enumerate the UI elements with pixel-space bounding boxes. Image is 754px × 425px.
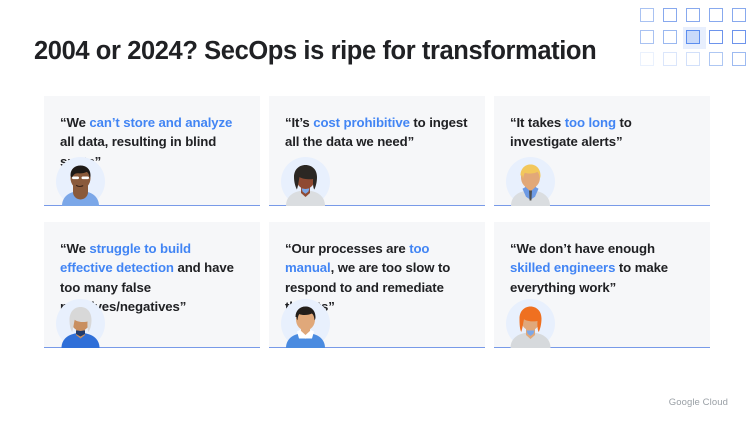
grid-square — [683, 5, 706, 27]
quote-highlight: too long — [565, 115, 616, 130]
grid-square — [683, 49, 706, 71]
grid-square — [729, 5, 752, 27]
page-title: 2004 or 2024? SecOps is ripe for transfo… — [34, 37, 596, 66]
grid-square — [706, 27, 729, 49]
quote-highlight: cost prohibitive — [313, 115, 410, 130]
avatar — [56, 157, 105, 206]
quote-plain: “We — [60, 241, 89, 256]
quote-text: “We don’t have enough skilled engineers … — [510, 239, 694, 297]
quote-card-grid: “We can’t store and analyze all data, re… — [44, 96, 710, 348]
grid-square — [637, 27, 660, 49]
avatar — [281, 299, 330, 348]
quote-card: “It takes too long to investigate alerts… — [494, 96, 710, 206]
grid-square — [729, 49, 752, 71]
quote-row-2: “We struggle to build effective detectio… — [44, 222, 710, 348]
quote-highlight: skilled engineers — [510, 260, 615, 275]
avatar — [281, 157, 330, 206]
grid-square — [660, 27, 683, 49]
grid-square — [637, 5, 660, 27]
avatar — [506, 157, 555, 206]
slide-root: 2004 or 2024? SecOps is ripe for transfo… — [0, 0, 754, 425]
grid-square — [706, 5, 729, 27]
grid-square — [637, 49, 660, 71]
grid-square-highlighted — [683, 27, 706, 49]
quote-card: “We struggle to build effective detectio… — [44, 222, 260, 348]
quote-card: “It’s cost prohibitive to ingest all the… — [269, 96, 485, 206]
square-grid-pattern-icon — [637, 5, 752, 73]
quote-card: “We can’t store and analyze all data, re… — [44, 96, 260, 206]
quote-plain: “Our processes are — [285, 241, 409, 256]
quote-plain: “It’s — [285, 115, 313, 130]
grid-square — [660, 5, 683, 27]
quote-card: “We don’t have enough skilled engineers … — [494, 222, 710, 348]
grid-square — [660, 49, 683, 71]
avatar — [506, 299, 555, 348]
quote-plain: “We don’t have enough — [510, 241, 655, 256]
quote-plain: “We — [60, 115, 89, 130]
google-cloud-logo: Google Cloud — [669, 397, 728, 408]
quote-row-1: “We can’t store and analyze all data, re… — [44, 96, 710, 206]
quote-plain: “It takes — [510, 115, 565, 130]
quote-card: “Our processes are too manual, we are to… — [269, 222, 485, 348]
grid-square — [706, 49, 729, 71]
quote-highlight: can’t store and analyze — [89, 115, 232, 130]
avatar — [56, 299, 105, 348]
quote-text: “It takes too long to investigate alerts… — [510, 113, 694, 152]
quote-text: “It’s cost prohibitive to ingest all the… — [285, 113, 469, 152]
grid-square — [729, 27, 752, 49]
